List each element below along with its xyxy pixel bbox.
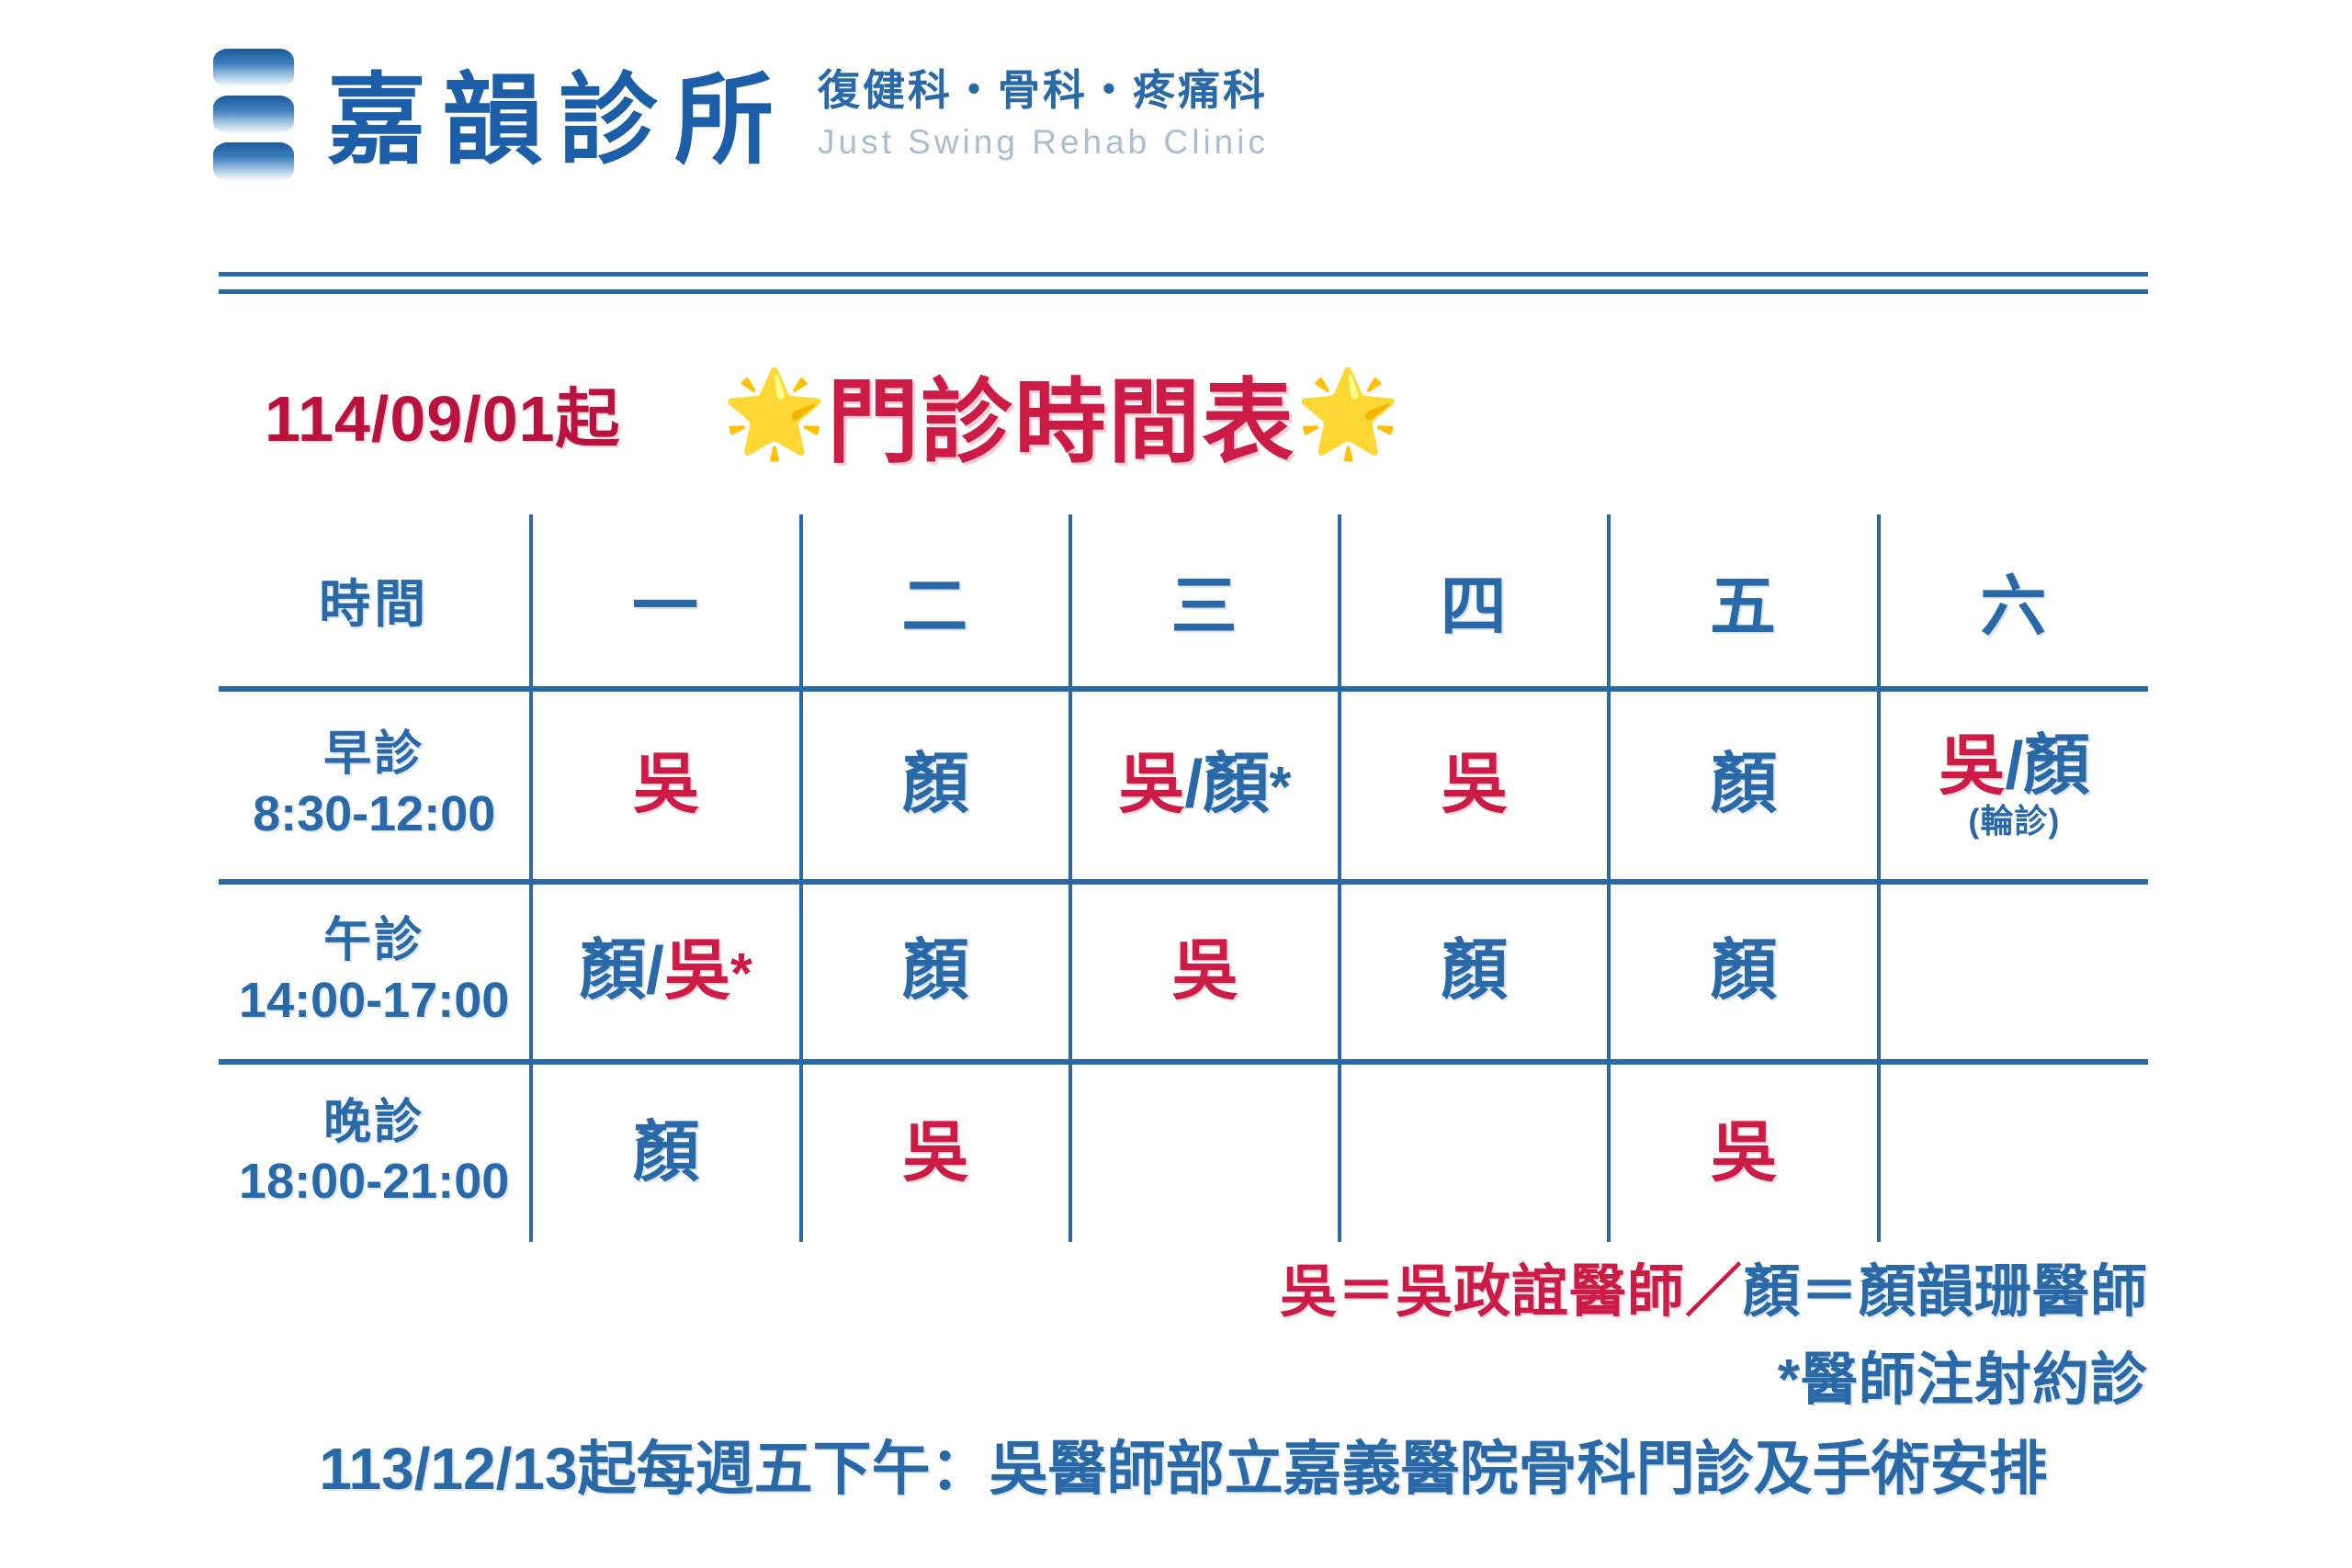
schedule-cell-thu[interactable]: 顏 <box>1340 882 1609 1062</box>
day-header-label: 二 <box>901 570 969 644</box>
schedule-cell-wed[interactable] <box>1070 1062 1340 1242</box>
header-divider-top <box>219 272 2148 276</box>
brand-header: 嘉韻診所 復健科・骨科・疼痛科 Just Swing Rehab Clinic <box>211 41 1269 188</box>
schedule-cell-sat[interactable] <box>1879 882 2148 1062</box>
slot-hours: 8:30-12:00 <box>219 784 529 845</box>
star-icon-left: 🌟 <box>722 371 828 456</box>
doctor-token: 吳 <box>1171 934 1238 1008</box>
slot-hours: 18:00-21:00 <box>219 1152 529 1213</box>
cell-content: 吳 <box>1611 1118 1876 1190</box>
clinic-name: 嘉韻診所 <box>327 68 790 173</box>
doctor-token: 顏 <box>902 748 968 821</box>
doctor-token: / <box>1184 748 1203 821</box>
day-header-sat: 六 <box>1879 514 2148 689</box>
cell-content: 吳 <box>1341 750 1607 821</box>
doctor-assignment: 顏 <box>902 936 968 1008</box>
vertebra-shape-1 <box>213 49 294 87</box>
doctor-token: 顏 <box>1711 748 1777 821</box>
cell-content: 吳/顏* <box>1072 750 1338 821</box>
schedule-cell-tue[interactable]: 吳 <box>801 1062 1070 1242</box>
day-header-label: 三 <box>1170 570 1238 644</box>
footnotes: 吳＝吳政誼醫師／顏＝顏韻珊醫師 *醫師注射約診 <box>219 1245 2148 1416</box>
effective-date: 114/09/01起 <box>265 367 621 460</box>
doctor-token: 吳 <box>1118 748 1184 821</box>
schedule-cell-wed[interactable]: 吳/顏* <box>1070 689 1340 882</box>
slot-label: 早診8:30-12:00 <box>219 726 529 844</box>
cell-content: 吳 <box>803 1118 1069 1190</box>
time-column-header-label: 時間 <box>319 575 429 633</box>
schedule-cell-tue[interactable]: 顏 <box>801 689 1070 882</box>
doctor-token: 顏 <box>1711 934 1777 1008</box>
doctor-token: 顏 <box>1442 934 1508 1008</box>
table-row: 晚診18:00-21:00顏吳吳 <box>219 1062 2148 1242</box>
doctor-assignment: 吳/顏* <box>1118 750 1291 821</box>
legend-wu: 吳＝吳政誼醫師 <box>1280 1260 1685 1324</box>
header-divider-bottom <box>219 289 2148 294</box>
doctor-token: 吳 <box>1711 1116 1777 1190</box>
cell-content: 顏 <box>803 936 1069 1008</box>
main-title-wrap: 🌟 門診時間表 🌟 <box>722 347 1401 480</box>
cell-content: 顏 <box>1341 936 1607 1008</box>
clinic-name-english: Just Swing Rehab Clinic <box>818 123 1269 162</box>
schedule-cell-thu[interactable] <box>1340 1062 1609 1242</box>
day-header-label: 五 <box>1710 570 1778 644</box>
doctor-token: / <box>2005 729 2023 803</box>
cell-content: 顏/吳* <box>533 936 798 1008</box>
doctor-token: 吳 <box>633 748 699 821</box>
cell-content: 顏 <box>533 1118 798 1190</box>
schedule-cell-mon[interactable]: 顏/吳* <box>531 882 800 1062</box>
doctor-token: * <box>730 942 752 1006</box>
table-row: 早診8:30-12:00吳顏吳/顏*吳顏吳/顏(輪診) <box>219 689 2148 882</box>
doctor-assignment: 吳/顏 <box>1939 731 2089 803</box>
doctor-assignment: 顏 <box>633 1118 699 1190</box>
doctor-token: 顏 <box>1203 748 1269 821</box>
cell-content: 吳 <box>533 750 798 821</box>
schedule-table-head: 時間 一 二 三 四 五 六 <box>219 514 2148 689</box>
slot-label-cell: 早診8:30-12:00 <box>219 689 531 882</box>
slot-label-cell: 午診14:00-17:00 <box>219 882 531 1062</box>
schedule-cell-sat[interactable]: 吳/顏(輪診) <box>1879 689 2148 882</box>
doctor-token: 顏 <box>902 934 968 1008</box>
doctor-token: 顏 <box>2023 729 2089 803</box>
doctor-assignment: 吳 <box>1171 936 1238 1008</box>
day-header-label: 一 <box>632 570 700 644</box>
star-icon-right: 🌟 <box>1295 371 1401 456</box>
doctor-assignment: 吳 <box>1711 1118 1777 1190</box>
doctor-assignment: 顏 <box>1442 936 1508 1008</box>
slot-name: 晚診 <box>323 1096 424 1149</box>
slot-name: 午診 <box>323 914 424 967</box>
schedule-cell-fri[interactable]: 吳 <box>1609 1062 1878 1242</box>
vertebra-shape-2 <box>213 96 294 134</box>
doctor-token: 顏 <box>633 1116 699 1190</box>
slot-hours: 14:00-17:00 <box>219 971 529 1032</box>
brand-subtitle-group: 復健科・骨科・疼痛科 Just Swing Rehab Clinic <box>818 57 1269 162</box>
cell-content: 顏 <box>803 750 1069 821</box>
schedule-cell-mon[interactable]: 吳 <box>531 689 800 882</box>
doctor-assignment: 顏 <box>902 750 968 821</box>
doctor-assignment: 顏 <box>1711 750 1777 821</box>
day-header-label: 六 <box>1980 570 2048 644</box>
doctor-assignment: 顏/吳* <box>580 936 752 1008</box>
doctor-token: 吳 <box>1939 729 2005 803</box>
day-header-fri: 五 <box>1609 514 1878 689</box>
slot-label-cell: 晚診18:00-21:00 <box>219 1062 531 1242</box>
doctor-assignment: 顏 <box>1711 936 1777 1008</box>
legend-yan: 顏＝顏韻珊醫師 <box>1743 1260 2148 1324</box>
slot-label: 晚診18:00-21:00 <box>219 1094 529 1213</box>
day-header-mon: 一 <box>531 514 800 689</box>
asterisk-note: *醫師注射約診 <box>219 1333 2148 1416</box>
slot-label: 午診14:00-17:00 <box>219 912 529 1031</box>
cell-content: 顏 <box>1611 750 1876 821</box>
schedule-cell-fri[interactable]: 顏 <box>1609 689 1878 882</box>
table-row: 午診14:00-17:00顏/吳*顏吳顏顏 <box>219 882 2148 1062</box>
table-header-row: 時間 一 二 三 四 五 六 <box>219 514 2148 689</box>
schedule-cell-thu[interactable]: 吳 <box>1340 689 1609 882</box>
schedule-cell-wed[interactable]: 吳 <box>1070 882 1340 1062</box>
cell-content: 吳/顏(輪診) <box>1881 731 2148 840</box>
doctor-token: 吳 <box>1442 748 1508 821</box>
title-row: 114/09/01起 🌟 門診時間表 🌟 <box>219 349 2148 478</box>
time-column-header: 時間 <box>219 514 531 689</box>
schedule-cell-fri[interactable]: 顏 <box>1609 882 1878 1062</box>
friday-note: 113/12/13起每週五下午：吳醫師部立嘉義醫院骨科門診及手術安排 <box>219 1422 2148 1506</box>
day-header-thu: 四 <box>1340 514 1609 689</box>
schedule-cell-mon[interactable]: 顏 <box>531 1062 800 1242</box>
schedule-cell-tue[interactable]: 顏 <box>801 882 1070 1062</box>
day-header-tue: 二 <box>801 514 1070 689</box>
clinic-specialties: 復健科・骨科・疼痛科 <box>818 57 1269 118</box>
cell-content: 顏 <box>1611 936 1876 1008</box>
schedule-table-body: 早診8:30-12:00吳顏吳/顏*吳顏吳/顏(輪診)午診14:00-17:00… <box>219 689 2148 1242</box>
doctor-assignment: 吳 <box>633 750 699 821</box>
day-header-wed: 三 <box>1070 514 1340 689</box>
cell-note: (輪診) <box>1968 804 2060 840</box>
vertebra-shape-3 <box>213 142 294 181</box>
schedule-table: 時間 一 二 三 四 五 六 早診8:30-12:00吳顏吳/顏*吳顏吳/顏(輪… <box>219 514 2148 1242</box>
doctor-assignment: 吳 <box>902 1118 968 1190</box>
schedule-cell-sat[interactable] <box>1879 1062 2148 1242</box>
cell-content: 吳 <box>1072 936 1338 1008</box>
doctor-token: 吳 <box>902 1116 968 1190</box>
brand-names: 嘉韻診所 復健科・骨科・疼痛科 Just Swing Rehab Clinic <box>327 57 1269 173</box>
page-title: 門診時間表 <box>827 347 1295 480</box>
spine-vertebrae-icon <box>211 41 296 188</box>
doctor-legend: 吳＝吳政誼醫師／顏＝顏韻珊醫師 <box>219 1245 2148 1327</box>
doctor-token: * <box>1269 756 1291 819</box>
clinic-schedule-poster: 嘉韻診所 復健科・骨科・疼痛科 Just Swing Rehab Clinic … <box>0 0 2352 1568</box>
doctor-token: / <box>646 934 664 1008</box>
legend-separator: ／ <box>1685 1260 1743 1324</box>
doctor-assignment: 吳 <box>1442 750 1508 821</box>
slot-name: 早診 <box>323 728 424 781</box>
doctor-token: 吳 <box>664 934 730 1008</box>
day-header-label: 四 <box>1441 570 1509 644</box>
doctor-token: 顏 <box>580 934 646 1008</box>
